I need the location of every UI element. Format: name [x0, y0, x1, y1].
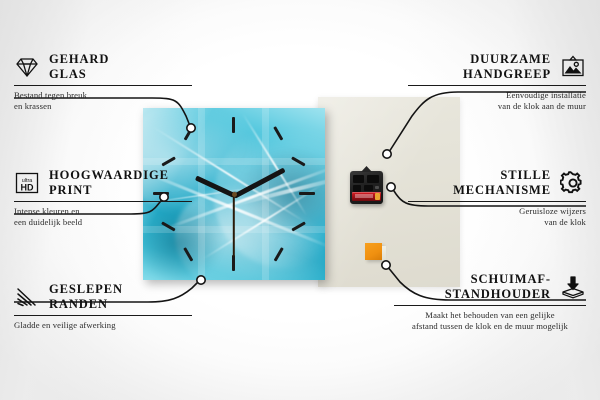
divider [14, 85, 192, 86]
feature-title-line1: DUURZAME [408, 52, 551, 67]
feature-title-line2: HANDGREEP [408, 67, 551, 82]
feature-gehard-glas[interactable]: GEHARD GLAS Bestand tegen breuk en krass… [14, 52, 192, 113]
feature-title-line2: PRINT [49, 183, 192, 198]
feature-stille-mechanisme[interactable]: STILLE MECHANISME Geruisloze wijzers van… [408, 168, 586, 229]
desc-line2: en krassen [14, 101, 192, 113]
desc-line2: een duidelijk beeld [14, 217, 192, 229]
infographic-canvas: GEHARD GLAS Bestand tegen breuk en krass… [0, 0, 600, 400]
mechanism-battery [352, 192, 381, 201]
feature-description: Maakt het behouden van een gelijke afsta… [394, 310, 586, 334]
divider [408, 85, 586, 86]
feature-title-line1: STILLE [408, 168, 551, 183]
clock-marker [232, 255, 235, 271]
feature-title-line2: GLAS [49, 67, 192, 82]
ultra-hd-icon: ultra HD [14, 171, 40, 195]
desc-line1: Geruisloze wijzers [408, 206, 586, 218]
clock-mechanism [350, 171, 383, 204]
desc-line1: Gladde en veilige afwerking [14, 320, 192, 332]
divider [394, 305, 586, 306]
feature-title-line1: GESLEPEN [49, 282, 192, 297]
feature-description: Gladde en veilige afwerking [14, 320, 192, 332]
feature-description: Bestand tegen breuk en krassen [14, 90, 192, 114]
spacer-arrow-icon [560, 275, 586, 299]
desc-line2: van de klok [408, 217, 586, 229]
feature-title-line2: RANDEN [49, 297, 192, 312]
feature-duurzame-handgreep[interactable]: DUURZAME HANDGREEP Eenvoudige installati… [408, 52, 586, 113]
feature-title-line1: HOOGWAARDIGE [49, 168, 192, 183]
clock-second-hand [233, 195, 235, 257]
diamond-icon [14, 55, 40, 79]
feature-geslepen-randen[interactable]: GESLEPEN RANDEN Gladde en veilige afwerk… [14, 282, 192, 331]
desc-line1: Eenvoudige installatie [408, 90, 586, 102]
desc-line1: Maakt het behouden van een gelijke [394, 310, 586, 322]
picture-frame-icon [560, 55, 586, 79]
clock-center-hub [232, 192, 237, 197]
clock-marker [299, 192, 315, 195]
feature-description: Geruisloze wijzers van de klok [408, 206, 586, 230]
feature-title-line2: STANDHOUDER [394, 287, 551, 302]
divider [408, 201, 586, 202]
desc-line2: van de klok aan de muur [408, 101, 586, 113]
desc-line1: Bestand tegen breuk [14, 90, 192, 102]
feature-title-line1: GEHARD [49, 52, 192, 67]
svg-text:HD: HD [21, 182, 34, 192]
feature-description: Intense kleuren en een duidelijk beeld [14, 206, 192, 230]
clock-marker [232, 117, 235, 133]
feature-title-line2: MECHANISME [408, 183, 551, 198]
desc-line1: Intense kleuren en [14, 206, 192, 218]
beveled-edge-icon [14, 285, 40, 309]
divider [14, 201, 192, 202]
feature-title-line1: SCHUIMAF- [394, 272, 551, 287]
gear-icon [560, 171, 586, 195]
foam-spacer-pad [365, 243, 382, 260]
divider [14, 315, 192, 316]
desc-line2: afstand tussen de klok en de muur mogeli… [394, 321, 586, 333]
feature-schuimafstandhouder[interactable]: SCHUIMAF- STANDHOUDER Maakt het behouden… [394, 272, 586, 333]
feature-hoogwaardige-print[interactable]: ultra HD HOOGWAARDIGE PRINT Intense kleu… [14, 168, 192, 229]
feature-description: Eenvoudige installatie van de klok aan d… [408, 90, 586, 114]
